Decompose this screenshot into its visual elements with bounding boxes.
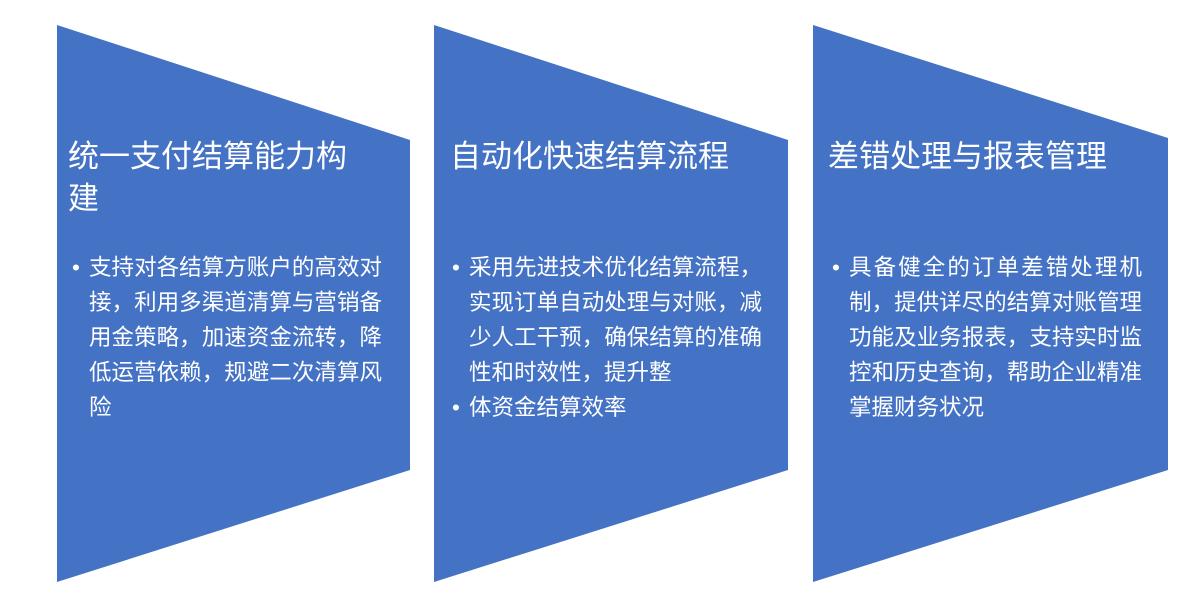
bullet-item: •具备健全的订单差错处理机制，提供详尽的结算对账管理功能及业务报表，支持实时监控…	[832, 250, 1142, 425]
panel-title-2: 自动化快速结算流程	[450, 136, 750, 178]
panel-title-1: 统一支付结算能力构建	[68, 136, 368, 220]
bullet-dot-icon: •	[832, 250, 849, 285]
bullet-item: •体资金结算效率	[452, 390, 762, 425]
bullet-dot-icon: •	[452, 250, 469, 285]
bullet-text: 具备健全的订单差错处理机制，提供详尽的结算对账管理功能及业务报表，支持实时监控和…	[849, 250, 1142, 425]
bullet-text: 支持对各结算方账户的高效对接，利用多渠道清算与营销备用金策略，加速资金流转，降低…	[89, 250, 382, 425]
bullet-item: •支持对各结算方账户的高效对接，利用多渠道清算与营销备用金策略，加速资金流转，降…	[72, 250, 382, 425]
bullet-dot-icon: •	[72, 250, 89, 285]
panel-body-3: •具备健全的订单差错处理机制，提供详尽的结算对账管理功能及业务报表，支持实时监控…	[832, 250, 1142, 425]
bullet-item: •采用先进技术优化结算流程，实现订单自动处理与对账，减少人工干预，确保结算的准确…	[452, 250, 762, 390]
slide-canvas: 统一支付结算能力构建•支持对各结算方账户的高效对接，利用多渠道清算与营销备用金策…	[0, 0, 1194, 606]
bullet-text: 体资金结算效率	[469, 390, 762, 425]
bullet-dot-icon: •	[452, 390, 469, 425]
panel-body-2: •采用先进技术优化结算流程，实现订单自动处理与对账，减少人工干预，确保结算的准确…	[452, 250, 762, 425]
panel-title-3: 差错处理与报表管理	[828, 136, 1128, 178]
bullet-text: 采用先进技术优化结算流程，实现订单自动处理与对账，减少人工干预，确保结算的准确性…	[469, 250, 762, 390]
panel-body-1: •支持对各结算方账户的高效对接，利用多渠道清算与营销备用金策略，加速资金流转，降…	[72, 250, 382, 425]
